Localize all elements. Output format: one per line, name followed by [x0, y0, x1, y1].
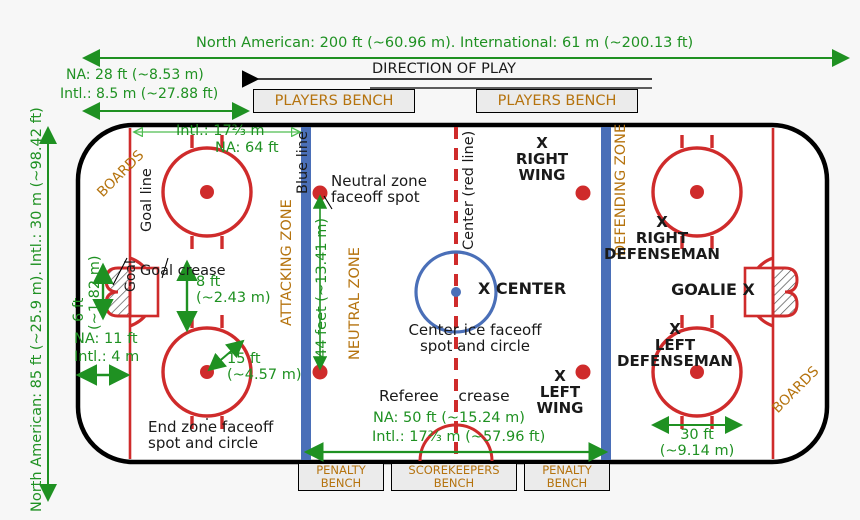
penalty-bench-right[interactable]: PENALTY BENCH [524, 463, 610, 491]
crease-height-label: 8 ft (~2.43 m) [196, 275, 270, 306]
position-center: X CENTER [478, 280, 566, 297]
na-end-zone-depth-label: NA: 28 ft (~8.53 m) [66, 68, 204, 83]
intl-blueline-distance-label: Intl.: 17⅔ m [176, 124, 265, 140]
hockey-rink-diagram: North American: 200 ft (~60.96 m). Inter… [0, 0, 860, 520]
scorekeepers-bench[interactable]: SCOREKEEPERS BENCH [391, 463, 517, 491]
goal-label: Goal [124, 260, 139, 292]
players-bench-right-label: PLAYERS BENCH [498, 93, 617, 109]
players-bench-left-label: PLAYERS BENCH [275, 93, 394, 109]
blue-line-label: Blue line [296, 131, 312, 194]
penalty-bench-right-label: PENALTY BENCH [542, 464, 592, 489]
neutral-zone-label: NEUTRAL ZONE [348, 247, 364, 360]
faceoff-diameter-label: 30 ft (~9.14 m) [637, 428, 757, 459]
center-ice-faceoff-label: Center ice faceoff spot and circle [370, 322, 580, 354]
rink-length-label: North American: 200 ft (~60.96 m). Inter… [196, 36, 693, 52]
position-goalie: GOALIE X [658, 281, 768, 298]
neutral-faceoff-spot-label: Neutral zone faceoff spot [331, 173, 427, 205]
rink-width-label: North American: 85 ft (~25.9 m). Intl.: … [30, 107, 46, 512]
end-zone-faceoff-label: End zone faceoff spot and circle [148, 419, 273, 451]
faceoff-radius-label: 15 ft (~4.57 m) [227, 352, 301, 383]
scorekeepers-bench-label: SCOREKEEPERS BENCH [408, 464, 499, 489]
intl-end-zone-depth-label: Intl.: 8.5 m (~27.88 ft) [60, 87, 218, 102]
intl-goal-from-boards-label: Intl.: 4 m [74, 350, 139, 366]
goal-width-label: 6 ft [72, 298, 88, 322]
na-blueline-distance-label: NA: 64 ft [215, 141, 279, 157]
goal-line-label: Goal line [140, 168, 156, 232]
position-right-defenseman: X RIGHT DEFENSEMAN [587, 214, 737, 263]
players-bench-left[interactable]: PLAYERS BENCH [253, 89, 415, 113]
position-left-defenseman: X LEFT DEFENSEMAN [600, 321, 750, 370]
na-neutral-length-label: NA: 50 ft (~15.24 m) [373, 411, 525, 427]
neutral-zone-width-label: 44 feet (~13.41 m) [315, 218, 331, 358]
center-red-line-label: Center (red line) [462, 131, 478, 250]
direction-of-play-label: DIRECTION OF PLAY [372, 62, 516, 78]
position-left-wing: X LEFT WING [505, 368, 615, 417]
position-right-wing: X RIGHT WING [487, 135, 597, 184]
goal-width-metric-label: (~1.82 m) [88, 256, 104, 330]
attacking-zone-label: ATTACKING ZONE [280, 176, 296, 326]
intl-neutral-length-label: Intl.: 17⅔ m (~57.96 ft) [372, 430, 545, 446]
penalty-bench-left-label: PENALTY BENCH [316, 464, 366, 489]
penalty-bench-left[interactable]: PENALTY BENCH [298, 463, 384, 491]
referee-crease-label: Referee crease [379, 388, 510, 405]
na-goal-from-boards-label: NA: 11 ft [74, 332, 138, 348]
